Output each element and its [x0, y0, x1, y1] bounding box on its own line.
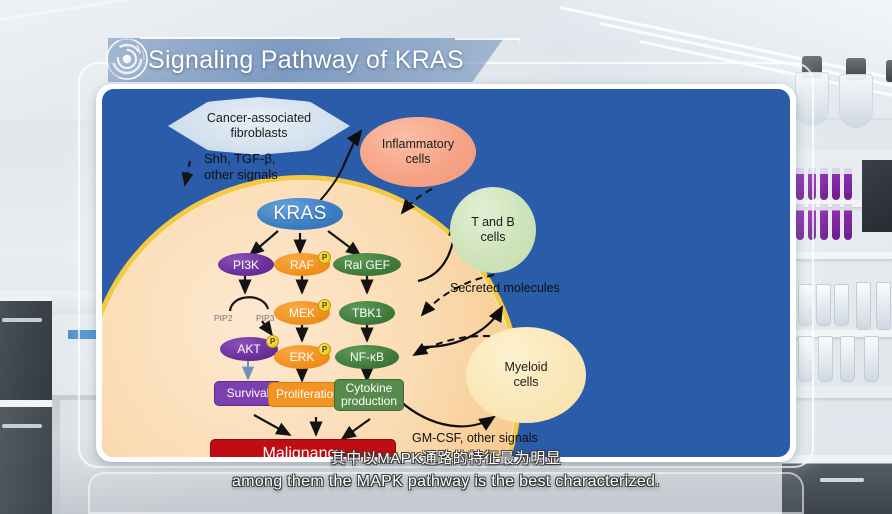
- mek-phospho-icon: P: [318, 299, 331, 312]
- test-tube: [844, 204, 852, 240]
- beaker: [840, 336, 855, 382]
- myeloid-line2: cells: [504, 375, 547, 390]
- nfkb-node: NF-κB: [335, 345, 399, 369]
- raf-phospho-icon: P: [318, 251, 331, 264]
- beaker: [816, 284, 831, 326]
- pi3k-node: PI3K: [218, 253, 274, 276]
- inflammatory-cells-node: Inflammatory cells: [360, 117, 476, 187]
- cancer-associated-fibroblasts-node: Cancer-associated fibroblasts: [168, 97, 350, 155]
- glass-rack-clip: [886, 60, 892, 82]
- test-tube: [820, 204, 828, 240]
- t-and-b-cells-node: T and B cells: [450, 187, 536, 273]
- shelf-equipment: [862, 160, 892, 232]
- beaker: [818, 336, 833, 382]
- tbk1-node: TBK1: [339, 301, 395, 325]
- cabinet-handle: [2, 424, 42, 428]
- subtitle-english: among them the MAPK pathway is the best …: [0, 470, 892, 494]
- subtitle-block: 其中以MAPK通路的特征最为明显 among them the MAPK pat…: [0, 448, 892, 494]
- beaker: [864, 336, 879, 382]
- ral-gef-node: Ral GEF: [333, 253, 401, 276]
- pip2-label: PIP2: [214, 313, 232, 323]
- test-tube: [820, 168, 828, 200]
- signal-line2: other signals: [204, 167, 278, 183]
- erk-phospho-icon: P: [318, 343, 331, 356]
- myeloid-cells-node: Myeloid cells: [466, 327, 586, 423]
- kras-pathway-diagram: Cancer-associated fibroblasts Shh, TGF-β…: [102, 89, 790, 457]
- beaker: [834, 284, 849, 326]
- cytokine-line2: production: [341, 395, 397, 408]
- title-top-rule: [140, 37, 340, 39]
- beaker: [856, 282, 871, 330]
- ceiling-light-line: [0, 0, 257, 21]
- test-tube: [832, 204, 840, 240]
- kras-node: KRAS: [257, 198, 343, 230]
- hanging-glassware: [839, 74, 873, 128]
- beaker: [876, 282, 891, 330]
- radar-emblem-icon: [104, 36, 150, 82]
- test-tube: [832, 168, 840, 200]
- caf-label-line1: Cancer-associated: [207, 111, 311, 126]
- cytokine-production-node: Cytokine production: [334, 379, 404, 411]
- test-tube: [844, 168, 852, 200]
- pip3-label: PIP3: [256, 313, 274, 323]
- signal-line1: Shh, TGF-β,: [204, 151, 278, 167]
- tandb-line2: cells: [471, 230, 515, 245]
- akt-phospho-icon: P: [266, 335, 279, 348]
- shh-tgfb-signal-label: Shh, TGF-β, other signals: [204, 151, 278, 183]
- inflammatory-line1: Inflammatory: [382, 137, 454, 152]
- page-title: Signaling Pathway of KRAS: [148, 40, 464, 80]
- screenshot-root: Signaling Pathway of KRAS: [0, 0, 892, 514]
- subtitle-chinese: 其中以MAPK通路的特征最为明显: [0, 448, 892, 470]
- secreted-molecules-label: Secreted molecules: [450, 281, 560, 295]
- gm-csf-label: GM-CSF, other signals: [412, 431, 538, 445]
- tandb-line1: T and B: [471, 215, 515, 230]
- myeloid-line1: Myeloid: [504, 360, 547, 375]
- cabinet-handle: [2, 318, 42, 322]
- inflammatory-line2: cells: [382, 152, 454, 167]
- caf-label-line2: fibroblasts: [207, 126, 311, 141]
